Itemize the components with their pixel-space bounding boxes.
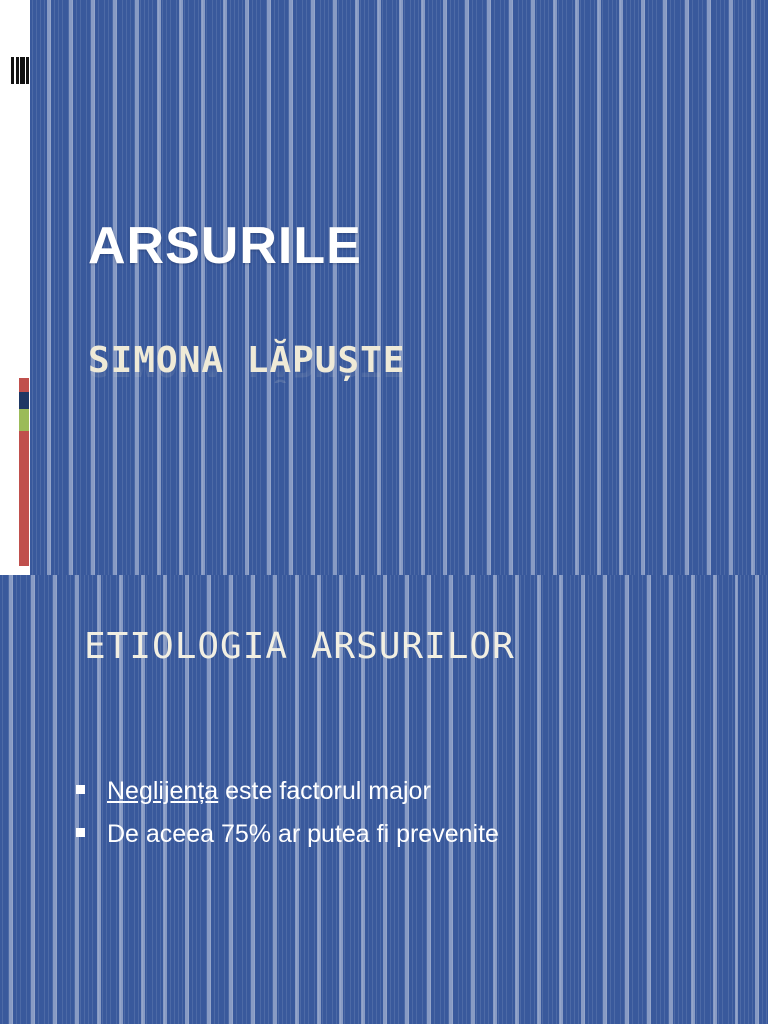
- list-item: Neglijența este factorul major: [76, 778, 676, 806]
- bullet-square-icon: [76, 785, 85, 794]
- bullet-square-icon: [76, 828, 85, 837]
- slide-subtitle-block: SIMONA LĂPUȘTE SIMONA LĂPUȘTE: [88, 340, 648, 401]
- section-heading: ETIOLOGIA ARSURILOR: [84, 626, 515, 667]
- accent-segment-navy: [19, 392, 29, 409]
- bullet-list: Neglijența este factorul major De aceea …: [76, 778, 676, 863]
- slide-title: ARSURILE: [88, 216, 362, 276]
- bullet-text: De aceea 75% ar putea fi prevenite: [107, 821, 499, 849]
- list-item: De aceea 75% ar putea fi prevenite: [76, 821, 676, 849]
- bullet-rest: De aceea 75% ar putea fi prevenite: [107, 820, 499, 848]
- barcode-mark-icon: [11, 57, 29, 84]
- accent-segment-red-long: [19, 431, 29, 566]
- bullet-text: Neglijența este factorul major: [107, 778, 431, 806]
- accent-segment-red-top: [19, 378, 29, 392]
- slide-canvas: ARSURILE SIMONA LĂPUȘTE SIMONA LĂPUȘTE E…: [0, 0, 768, 1024]
- slide-subtitle-reflection: SIMONA LĂPUȘTE: [88, 363, 648, 383]
- bullet-rest: este factorul major: [218, 777, 431, 805]
- accent-color-bar: [19, 378, 29, 566]
- bullet-emphasis: Neglijența: [107, 777, 218, 805]
- accent-segment-green: [19, 409, 29, 431]
